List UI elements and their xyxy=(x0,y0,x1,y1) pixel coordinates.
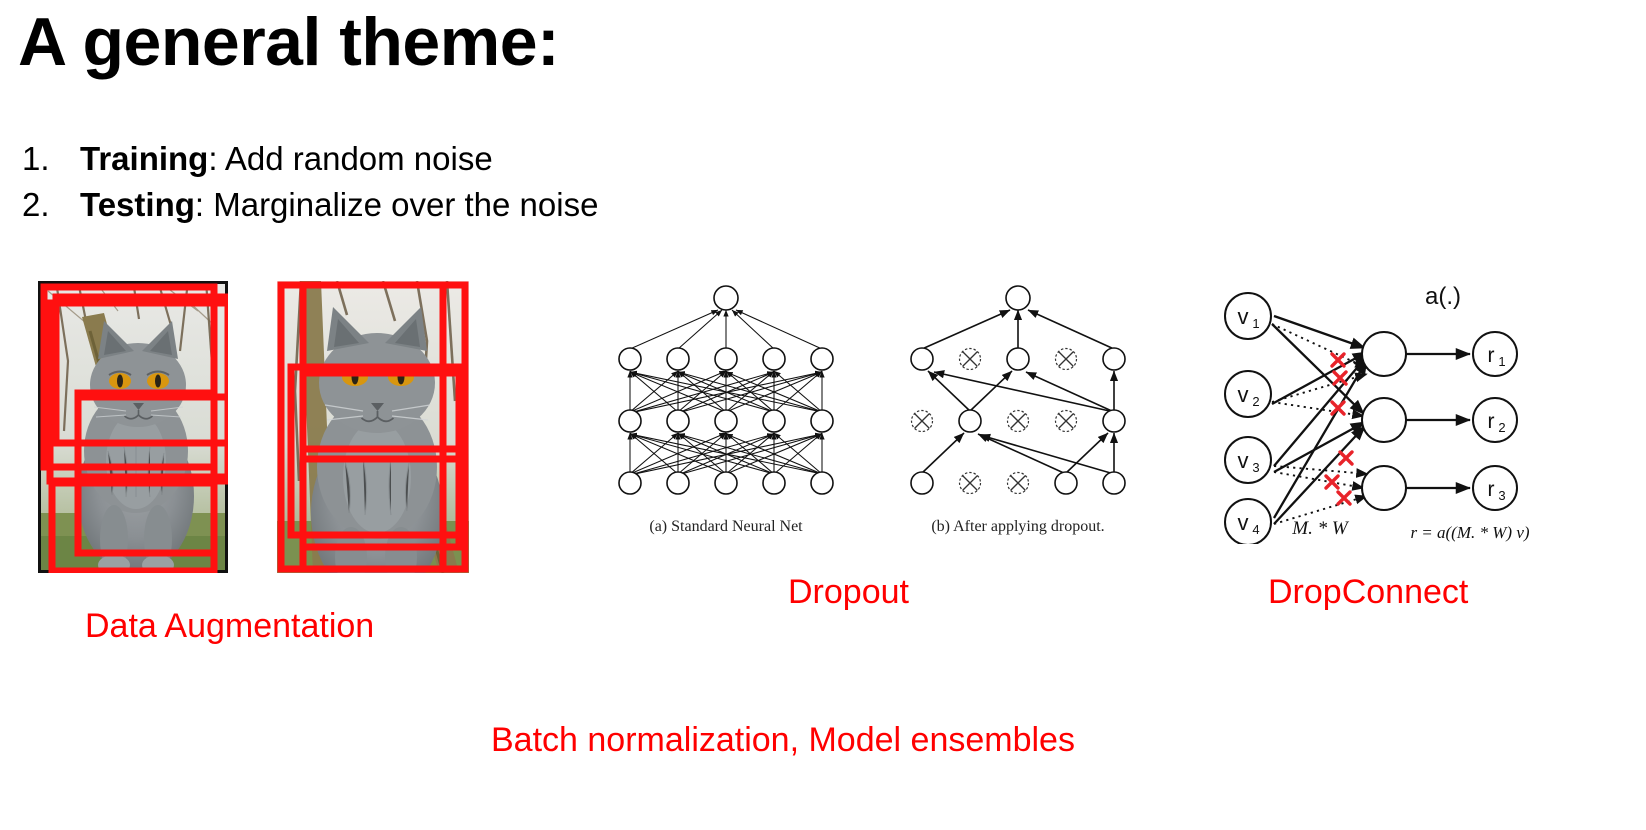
list-item-text: : Marginalize over the noise xyxy=(195,182,599,228)
dropconnect-figure: v v v v 1 2 3 4 xyxy=(1212,276,1572,544)
augmentation-crop-boxes-1 xyxy=(38,281,228,573)
augmentation-crop-boxes-2 xyxy=(277,281,469,573)
input-node-v4-label: v xyxy=(1238,510,1249,535)
bullet-list: 1. Training : Add random noise 2. Testin… xyxy=(22,136,598,228)
input-node-v3-sub: 3 xyxy=(1252,460,1259,475)
list-item-number: 2. xyxy=(22,182,80,228)
dropconnect-diagram: v v v v 1 2 3 4 xyxy=(1212,276,1572,544)
list-item-term: Testing xyxy=(80,182,195,228)
dropout-subcaption-a: (a) Standard Neural Net xyxy=(649,518,803,535)
input-node-v1-label: v xyxy=(1238,304,1249,329)
list-item-term: Training xyxy=(80,136,208,182)
input-node-v1-sub: 1 xyxy=(1252,316,1259,331)
output-node-r3-label: r xyxy=(1488,478,1495,501)
output-node-r1-sub: 1 xyxy=(1498,354,1505,369)
dropconnect-formula: r = a((M. * W) v) xyxy=(1410,523,1529,542)
dropout-diagram: (a) Standard Neural Net xyxy=(610,278,1130,540)
caption-dropout: Dropout xyxy=(788,573,909,612)
mask-label: M. * W xyxy=(1291,518,1350,539)
list-item-number: 1. xyxy=(22,136,80,182)
slide-root: A general theme: 1. Training : Add rando… xyxy=(0,0,1646,830)
cat-photo-original xyxy=(38,281,228,573)
caption-bottom-note: Batch normalization, Model ensembles xyxy=(491,721,1075,760)
input-node-v2-sub: 2 xyxy=(1252,394,1259,409)
output-node-r2-sub: 2 xyxy=(1498,420,1505,435)
input-node-v4-sub: 4 xyxy=(1252,522,1259,537)
cat-photo-cropped xyxy=(277,281,469,573)
list-item: 2. Testing : Marginalize over the noise xyxy=(22,182,598,228)
page-title: A general theme: xyxy=(18,8,559,76)
output-node-r3-sub: 3 xyxy=(1498,488,1505,503)
activation-label: a(.) xyxy=(1425,283,1461,310)
input-node-v2-label: v xyxy=(1238,382,1249,407)
list-item: 1. Training : Add random noise xyxy=(22,136,598,182)
caption-data-augmentation: Data Augmentation xyxy=(85,607,374,646)
dropout-figure: (a) Standard Neural Net xyxy=(610,278,1130,540)
output-node-r2-label: r xyxy=(1488,410,1495,433)
output-node-r1-label: r xyxy=(1488,344,1495,367)
dropout-subcaption-b: (b) After applying dropout. xyxy=(931,518,1104,535)
input-node-v3-label: v xyxy=(1238,448,1249,473)
list-item-text: : Add random noise xyxy=(208,136,492,182)
caption-dropconnect: DropConnect xyxy=(1268,573,1468,612)
